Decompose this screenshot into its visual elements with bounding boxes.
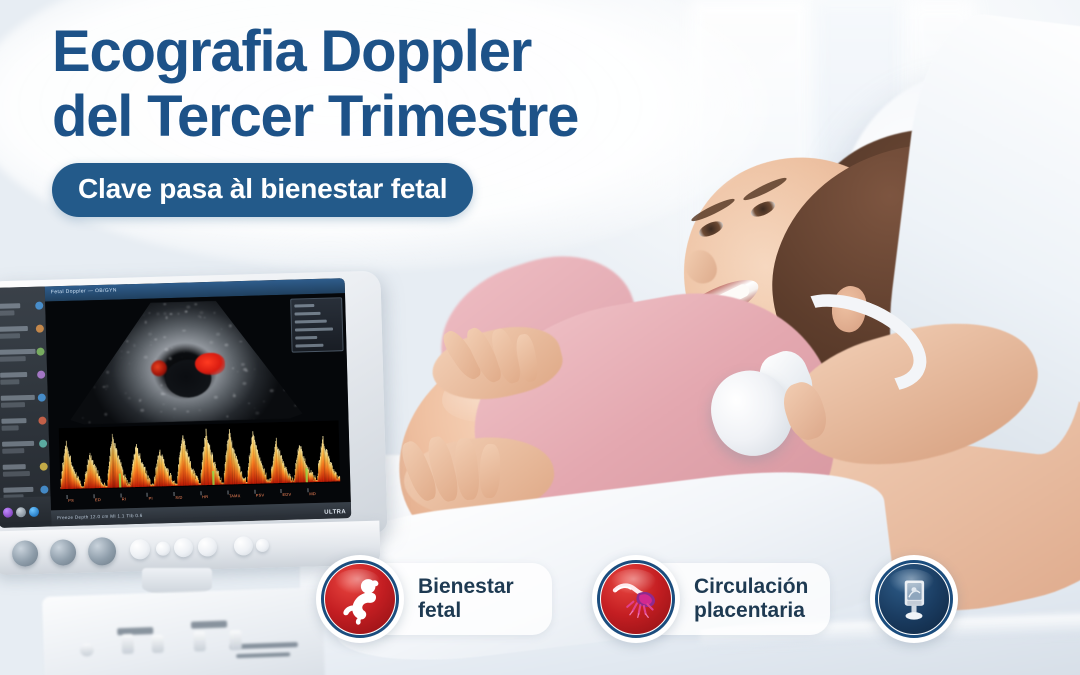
badge-circle[interactable] [316,555,404,643]
ultrasound-speckle [105,315,106,316]
ultrasound-sidebar-row [0,333,20,339]
ultrasound-speckle [271,370,274,372]
ultrasound-speckle [133,303,135,305]
ultrasound-speckle [87,364,90,367]
badge-circle[interactable] [592,555,680,643]
ultrasound-speckle [103,386,106,388]
badge-circulacion-placentaria[interactable]: Circulación placentaria [592,555,830,643]
taskbar-icon-blue[interactable] [29,507,39,517]
ultrasound-status-label: Freeze Depth 12.0 cm MI 1.1 TIb 0.6 [57,513,143,520]
ultrasound-speckle [286,309,289,311]
ultrasound-speckle [213,396,217,399]
monitor-button[interactable] [198,537,218,557]
ultrasound-speckle [187,306,191,309]
ultrasound-speckle [254,407,255,408]
ultrasound-sidebar-dot[interactable] [40,485,48,493]
ultrasound-speckle [245,370,248,372]
ultrasound-image-area: PSEDRIPIS/DHRTAMXPSVEDVMD [45,293,351,510]
placenta-icon [601,564,671,634]
color-doppler-flow [195,353,226,376]
ultrasound-sidebar-dot[interactable] [37,371,45,379]
ultrasound-speckle [133,344,136,346]
doppler-tick-label: RI [122,496,127,501]
ultrasound-speckle [144,315,145,316]
console-control[interactable] [121,634,134,654]
ultrasound-speckle [128,397,131,399]
ultrasound-speckle [232,392,234,394]
ultrasound-speckle [299,375,302,377]
ultrasound-speckle [220,329,222,330]
ultrasound-speckle [138,306,140,307]
monitor-button[interactable] [234,536,254,556]
ultrasound-speckle [144,321,147,323]
ultrasound-speckle [74,312,76,314]
ultrasound-sidebar-row [0,310,14,315]
fetus-icon [325,564,395,634]
ultrasound-speckle [298,390,302,393]
ultrasound-speckle [173,417,174,418]
ultrasound-sidebar-dot[interactable] [35,302,43,310]
ultrasound-screen: Fetal Doppler — OB/GYN [0,278,351,528]
ultrasound-speckle [69,343,73,346]
ultrasound-speckle [125,318,126,319]
ultrasound-sidebar-dot[interactable] [38,394,46,402]
ultrasound-sidebar-row[interactable] [0,326,28,332]
ultrasound-sidebar-row [0,356,26,362]
ultrasound-speckle [280,371,282,373]
poster-canvas: Fetal Doppler — OB/GYN [0,0,1080,675]
ultrasound-speckle [165,348,169,351]
ultrasound-sidebar-dot[interactable] [40,462,48,470]
ultrasound-speckle [121,357,122,358]
taskbar-icon-purple[interactable] [3,507,13,517]
ultrasound-speckle [274,356,276,357]
ultrasound-speckle [126,341,128,343]
doppler-spike [339,477,340,482]
console-control[interactable] [193,631,206,651]
doppler-tick-label: PSV [256,492,265,497]
ultrasound-speckle [154,338,157,340]
ultrasound-speckle [269,389,273,392]
ultrasound-speckle [163,303,166,305]
ultrasound-speckle [163,312,167,315]
ultrasound-sidebar-row [3,471,30,477]
ultrasound-speckle [110,345,114,348]
ultrasound-speckle [232,367,234,369]
ultrasound-machine-icon [879,564,949,634]
ultrasound-speckle [229,324,233,327]
doppler-tick-label: ED [95,497,101,502]
ultrasound-speckle [237,371,238,372]
doppler-tick-label: TAMX [229,493,241,498]
monitor-knob[interactable] [12,540,39,567]
doppler-tick-label: PI [148,496,152,501]
monitor-stand [142,568,212,594]
doppler-tick-label: S/D [175,495,182,500]
ultrasound-speckle [101,322,102,323]
ultrasound-speckle [91,315,94,317]
ultrasound-sidebar-row[interactable] [0,372,27,378]
ultrasound-speckle [275,326,279,329]
ultrasound-speckle [94,387,96,389]
badge-label-line1: Bienestar [418,575,530,599]
ultrasound-speckle [216,333,219,336]
ultrasound-speckle [270,327,273,330]
os-taskbar[interactable] [0,496,51,527]
ultrasound-speckle [263,401,266,403]
ultrasound-speckle [248,403,250,405]
ultrasound-speckle [105,389,106,390]
measurement-row [295,312,321,316]
ultrasound-speckle [171,347,174,349]
console-control[interactable] [151,635,164,653]
doppler-tick-label: MD [309,491,316,496]
ultrasound-speckle [157,313,160,315]
console-trackball[interactable] [80,643,94,656]
ultrasound-speckle [126,332,128,334]
ultrasound-speckle [184,352,185,353]
ultrasound-speckle [160,392,163,395]
ultrasound-speckle [182,357,183,358]
ultrasound-sidebar-row [2,425,19,430]
ultrasound-speckle [288,327,290,328]
ultrasound-speckle [191,339,193,340]
monitor-button[interactable] [156,541,170,555]
ultrasound-speckle [104,413,107,415]
ultrasound-speckle [160,411,162,413]
doppler-tick-label: HR [202,494,208,499]
ultrasound-speckle [272,309,273,310]
circle-gloss [335,569,380,594]
ultrasound-speckle [76,314,78,315]
ultrasound-speckle [99,324,103,327]
page-title-line1: Ecografia Doppler [52,22,752,81]
ultrasound-speckle [256,411,260,414]
ultrasound-speckle [177,313,179,314]
ultrasound-sidebar-dot[interactable] [36,348,44,356]
page-title: Ecografia Doppler del Tercer Trimestre [52,22,752,146]
ultrasound-speckle [89,353,92,355]
measurement-row [295,336,317,340]
ultrasound-speckle [263,353,265,355]
measurement-row [295,327,333,331]
monitor-knob[interactable] [50,539,77,566]
ultrasound-speckle [73,394,74,395]
ultrasound-speckle [162,403,165,406]
ultrasound-topbar-label: Fetal Doppler — OB/GYN [51,287,117,295]
ultrasound-speckle [69,307,72,310]
ultrasound-speckle [80,338,83,340]
ultrasound-speckle [74,343,77,345]
taskbar-icon-grey[interactable] [16,507,26,517]
ultrasound-speckle [90,367,92,369]
console-key[interactable] [236,652,290,658]
doppler-aliasing-streak [119,473,122,487]
ultrasound-speckle [226,416,228,418]
badge-circle[interactable] [870,555,958,643]
ultrasound-sidebar-dot[interactable] [36,325,44,333]
ultrasound-speckle [149,312,151,314]
badge-ultrasound-machine[interactable] [870,555,958,643]
ultrasound-speckle [240,341,242,343]
measurement-panel[interactable] [290,297,343,352]
ultrasound-speckle [141,409,145,412]
ultrasound-speckle [71,406,73,407]
ultrasound-speckle [82,417,84,418]
console-key[interactable] [191,620,227,628]
ultrasound-speckle [120,350,122,352]
ultrasound-speckle [243,382,247,385]
doppler-tick-label: EDV [282,492,291,497]
ultrasound-speckle [105,385,108,388]
doppler-aliasing-streak [212,471,215,485]
circle-gloss [889,569,934,594]
spectral-doppler-waveform [59,420,341,490]
ultrasound-sidebar-row[interactable] [3,464,26,470]
ultrasound-speckle [141,377,142,378]
ultrasound-speckle [214,312,216,314]
ultrasound-sidebar-row[interactable] [1,418,26,424]
doppler-aliasing-streak [305,468,308,482]
ultrasound-sidebar-row[interactable] [0,303,20,309]
ultrasound-speckle [254,368,256,369]
ultrasound-speckle [127,351,130,353]
ultrasound-speckle [195,303,197,305]
ultrasound-speckle [182,329,185,332]
ultrasound-speckle [186,410,189,413]
ultrasound-speckle [161,385,163,386]
ultrasound-sidebar-row [1,402,25,408]
ultrasound-sidebar-dot[interactable] [39,440,47,448]
subtitle-pill: Clave pasa àl bienestar fetal [52,163,473,217]
ultrasound-sidebar-row[interactable] [0,349,36,355]
feature-badges: Bienestar fetal [300,547,1080,653]
ultrasound-speckle [253,419,254,420]
monitor-button[interactable] [130,539,151,560]
ultrasound-speckle [71,320,74,323]
ultrasound-sidebar-row[interactable] [2,441,34,447]
badge-label-line2: fetal [418,599,530,623]
ultrasound-speckle [241,363,245,366]
monitor-button[interactable] [256,539,269,552]
ultrasound-speckle [107,337,109,338]
ultrasound-speckle [258,355,260,357]
ultrasound-speckle [224,343,228,346]
ultrasound-speckle [165,316,168,318]
measurement-row [294,304,314,308]
ultrasound-brand-logo: ULTRA [324,509,346,516]
ultrasound-speckle [128,363,129,364]
measurement-row [295,344,323,348]
ultrasound-sidebar-row[interactable] [3,487,33,493]
badge-label-line1: Circulación [694,575,808,599]
ultrasound-speckle [150,330,151,331]
ultrasound-speckle [88,421,90,423]
ultrasound-speckle [203,317,205,319]
machine-control-console[interactable] [42,587,326,675]
headline-block: Ecografia Doppler del Tercer Trimestre C… [52,22,752,217]
ultrasound-speckle [150,344,151,345]
ultrasound-speckle [269,352,271,354]
ultrasound-speckle [125,392,127,394]
console-control[interactable] [229,630,242,650]
ultrasound-speckle [169,357,172,359]
ultrasound-speckle [106,371,109,374]
doppler-tick-label: PS [68,498,74,503]
ultrasound-speckle [284,389,286,391]
ultrasound-speckle [233,395,236,397]
badge-label-line2: placentaria [694,599,808,623]
ultrasound-sidebar-row[interactable] [1,395,35,401]
ultrasound-speckle [144,355,148,358]
ultrasound-speckle [148,332,152,335]
monitor-knob[interactable] [88,537,117,566]
ultrasound-speckle [296,373,297,374]
ultrasound-speckle [173,408,176,410]
ultrasound-speckle [170,313,173,315]
circle-gloss [611,569,656,594]
ultrasound-speckle [186,311,188,313]
monitor-button[interactable] [174,538,194,558]
ultrasound-speckle [150,341,152,343]
ultrasound-speckle [210,341,214,344]
ultrasound-speckle [199,316,202,318]
ultrasound-speckle [239,402,240,403]
ultrasound-speckle [154,358,155,359]
ultrasound-speckle [163,336,166,338]
ultrasound-speckle [105,362,108,364]
ultrasound-sidebar-row [0,379,19,385]
ultrasound-speckle [142,306,145,309]
ultrasound-speckle [199,311,203,314]
measurement-row [295,320,327,324]
ultrasound-speckle [294,405,297,407]
ultrasound-speckle [199,409,202,411]
page-title-line2: del Tercer Trimestre [52,87,752,146]
ultrasound-sidebar-dot[interactable] [38,417,46,425]
ultrasound-sidebar-row [2,448,24,454]
badge-bienestar-fetal[interactable]: Bienestar fetal [316,555,552,643]
ultrasound-sidebar[interactable] [0,287,51,528]
